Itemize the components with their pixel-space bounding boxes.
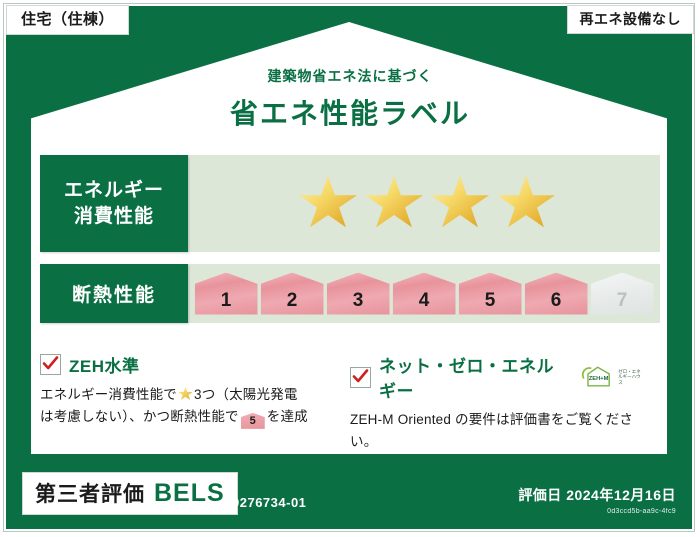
star-icon: [497, 176, 555, 232]
evaluation-date: 評価日 2024年12月16日: [518, 485, 676, 505]
energy-performance-label: 住宅（住棟） 再エネ設備なし 建築物省エネ法に基づく 省エネ性能ラベル エネルギ…: [0, 0, 700, 537]
bels-label-jp: 第三者評価: [35, 478, 145, 508]
claim-zeh-text-2: 3つ（太陽光発電: [194, 387, 298, 402]
building-type-tag: 住宅（住棟）: [6, 5, 129, 35]
evaluation-date-block: 評価日 2024年12月16日 0d3ccd5b-aa9c-4fc9: [518, 485, 676, 515]
insulation-level-1: 1: [195, 273, 258, 315]
footer-bar: 第三者評価 BELS 0276734-01 評価日 2024年12月16日 0d…: [0, 457, 700, 537]
bels-certificate-number: 0276734-01: [232, 495, 306, 510]
claim-nze-header: ネット・ゼロ・エネルギー ZEH+M ゼロ・エネルギーハウス: [350, 352, 642, 402]
insulation-performance-label-box: 断熱性能: [40, 264, 188, 323]
claim-zeh-header: ZEH水準: [40, 352, 332, 377]
energy-performance-row: エネルギー 消費性能: [40, 155, 660, 252]
energy-label-line1: エネルギー: [64, 178, 164, 204]
insulation-level-2: 2: [261, 273, 324, 315]
claim-zeh-title: ZEH水準: [69, 352, 140, 377]
svg-text:ZEH+M: ZEH+M: [589, 376, 609, 382]
energy-label-line2: 消費性能: [74, 204, 154, 230]
star-icon: [431, 176, 489, 232]
claim-zeh-text-4: を達成: [267, 409, 308, 424]
star-icon: [365, 176, 423, 232]
evaluation-code: 0d3ccd5b-aa9c-4fc9: [518, 508, 676, 515]
star-icon: [299, 176, 357, 232]
house-badge-icon: 5: [241, 413, 265, 429]
insulation-level-3: 3: [327, 273, 390, 315]
zeh-m-logo-note: ゼロ・エネルギーハウス: [618, 369, 642, 386]
claim-zeh-text-3: は考慮しない）、かつ断熱性能で: [40, 409, 239, 424]
renewable-equipment-tag: 再エネ設備なし: [567, 5, 695, 34]
checkbox-checked-icon[interactable]: [40, 354, 61, 375]
insulation-level-4: 4: [393, 273, 456, 315]
header-block: 建築物省エネ法に基づく 省エネ性能ラベル: [0, 66, 700, 132]
insulation-level-7: 7: [591, 273, 654, 315]
claim-net-zero-energy: ネット・ゼロ・エネルギー ZEH+M ゼロ・エネルギーハウス ZEH-M Ori…: [350, 352, 660, 448]
star-icon: [178, 387, 193, 401]
claim-nze-title: ネット・ゼロ・エネルギー: [379, 352, 566, 402]
insulation-label-text: 断熱性能: [72, 280, 156, 307]
insulation-scale: 1 2 3 4 5 6 7: [188, 273, 660, 315]
energy-performance-label-box: エネルギー 消費性能: [40, 155, 188, 252]
header-subtitle: 建築物省エネ法に基づく: [0, 66, 700, 86]
bels-label-en: BELS: [154, 479, 225, 508]
bels-badge: 第三者評価 BELS: [22, 472, 238, 515]
claim-zeh-text-1: エネルギー消費性能で: [40, 387, 177, 402]
insulation-level-5: 5: [459, 273, 522, 315]
page-title: 省エネ性能ラベル: [0, 92, 700, 132]
zeh-m-logo: ZEH+M ゼロ・エネルギーハウス: [580, 364, 642, 390]
checkbox-checked-icon[interactable]: [350, 367, 371, 388]
energy-star-rating: [188, 176, 660, 232]
insulation-level-6: 6: [525, 273, 588, 315]
claims-section: ZEH水準 エネルギー消費性能で3つ（太陽光発電 は考慮しない）、かつ断熱性能で…: [40, 352, 660, 448]
claim-zeh-body: エネルギー消費性能で3つ（太陽光発電 は考慮しない）、かつ断熱性能で5を達成: [40, 384, 332, 429]
claim-zeh-badge-number: 5: [250, 415, 256, 427]
claim-zeh-standard: ZEH水準 エネルギー消費性能で3つ（太陽光発電 は考慮しない）、かつ断熱性能で…: [40, 352, 350, 448]
claim-nze-body: ZEH-M Oriented の要件は評価書をご覧ください。: [350, 409, 642, 453]
insulation-performance-row: 断熱性能 1 2 3 4 5: [40, 264, 660, 323]
